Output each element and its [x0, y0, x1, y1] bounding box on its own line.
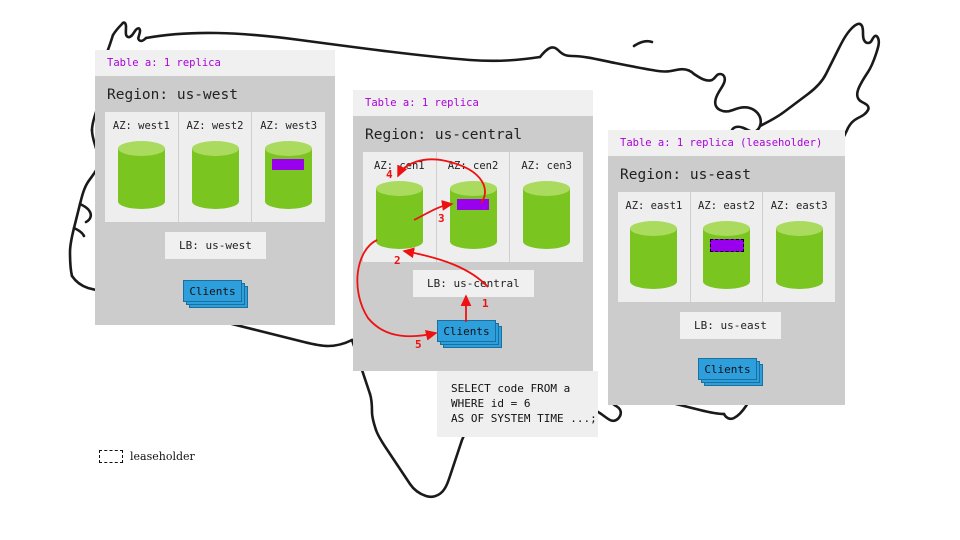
cylinder-body — [376, 188, 423, 242]
cylinder-top — [376, 181, 423, 196]
az-label-cen3: AZ: cen3 — [521, 152, 572, 181]
az-cell-east2[interactable]: AZ: east2 — [691, 192, 764, 302]
arrow-number-4: 4 — [386, 168, 393, 181]
clients-us-west[interactable]: Clients — [183, 280, 249, 308]
replica-marker-west3[interactable] — [272, 159, 304, 170]
arrow-number-1: 1 — [482, 297, 489, 310]
az-label-west1: AZ: west1 — [113, 112, 170, 141]
clients-us-central[interactable]: Clients — [437, 320, 507, 348]
region-panel-us-east: Table a: 1 replica (leaseholder) Region:… — [608, 130, 845, 405]
region-header-us-central: Table a: 1 replica — [353, 90, 593, 116]
clients-label-us-east[interactable]: Clients — [698, 358, 757, 380]
sql-query-note: SELECT code FROM a WHERE id = 6 AS OF SY… — [437, 371, 598, 437]
az-label-east1: AZ: east1 — [625, 192, 682, 221]
load-balancer-us-central[interactable]: LB: us-central — [413, 270, 534, 297]
leaseholder-swatch-icon — [99, 450, 123, 463]
node-west1[interactable] — [118, 141, 165, 209]
az-label-cen1: AZ: cen1 — [374, 152, 425, 181]
az-row-us-east: AZ: east1 AZ: east2 — [618, 192, 835, 302]
az-cell-west3[interactable]: AZ: west3 — [252, 112, 325, 222]
legend-label: leaseholder — [130, 450, 195, 463]
node-east3[interactable] — [776, 221, 823, 289]
node-west2[interactable] — [192, 141, 239, 209]
cylinder-body — [630, 228, 677, 282]
node-cen1[interactable] — [376, 181, 423, 249]
region-title-us-east: Region: us-east — [608, 156, 845, 192]
az-row-us-central: AZ: cen1 AZ: cen2 — [363, 152, 583, 262]
load-balancer-us-east[interactable]: LB: us-east — [680, 312, 781, 339]
az-label-east3: AZ: east3 — [771, 192, 828, 221]
legend-leaseholder: leaseholder — [99, 450, 195, 463]
region-panel-us-central: Table a: 1 replica Region: us-central AZ… — [353, 90, 593, 371]
cylinder-top — [703, 221, 750, 236]
cylinder-top — [192, 141, 239, 156]
cylinder-body — [192, 148, 239, 202]
cylinder-top — [630, 221, 677, 236]
az-cell-east3[interactable]: AZ: east3 — [763, 192, 835, 302]
az-cell-cen3[interactable]: AZ: cen3 — [510, 152, 583, 262]
cylinder-top — [776, 221, 823, 236]
cylinder-body — [265, 148, 312, 202]
region-title-us-west: Region: us-west — [95, 76, 335, 112]
cylinder-top — [523, 181, 570, 196]
arrow-number-5: 5 — [415, 338, 422, 351]
cylinder-body — [776, 228, 823, 282]
az-label-west2: AZ: west2 — [187, 112, 244, 141]
cylinder-top — [118, 141, 165, 156]
az-cell-cen1[interactable]: AZ: cen1 — [363, 152, 437, 262]
region-header-us-west: Table a: 1 replica — [95, 50, 335, 76]
cylinder-top — [450, 181, 497, 196]
diagram-canvas: Table a: 1 replica Region: us-west AZ: w… — [0, 0, 960, 540]
node-east2[interactable] — [703, 221, 750, 289]
cylinder-body — [703, 228, 750, 282]
region-header-us-east: Table a: 1 replica (leaseholder) — [608, 130, 845, 156]
az-label-east2: AZ: east2 — [698, 192, 755, 221]
replica-marker-east2-leaseholder[interactable] — [710, 239, 744, 252]
clients-label-us-west[interactable]: Clients — [183, 280, 242, 302]
az-cell-west2[interactable]: AZ: west2 — [179, 112, 253, 222]
arrow-number-2: 2 — [394, 254, 401, 267]
cylinder-top — [265, 141, 312, 156]
node-east1[interactable] — [630, 221, 677, 289]
replica-marker-cen2[interactable] — [457, 199, 489, 210]
cylinder-body — [523, 188, 570, 242]
load-balancer-us-west[interactable]: LB: us-west — [165, 232, 266, 259]
clients-label-us-central[interactable]: Clients — [437, 320, 496, 342]
node-cen2[interactable] — [450, 181, 497, 249]
az-row-us-west: AZ: west1 AZ: west2 — [105, 112, 325, 222]
node-cen3[interactable] — [523, 181, 570, 249]
az-cell-east1[interactable]: AZ: east1 — [618, 192, 691, 302]
node-west3[interactable] — [265, 141, 312, 209]
clients-us-east[interactable]: Clients — [698, 358, 768, 386]
az-cell-cen2[interactable]: AZ: cen2 — [437, 152, 511, 262]
az-cell-west1[interactable]: AZ: west1 — [105, 112, 179, 222]
az-label-cen2: AZ: cen2 — [448, 152, 499, 181]
cylinder-body — [118, 148, 165, 202]
region-title-us-central: Region: us-central — [353, 116, 593, 152]
az-label-west3: AZ: west3 — [260, 112, 317, 141]
arrow-number-3: 3 — [438, 212, 445, 225]
cylinder-body — [450, 188, 497, 242]
region-panel-us-west: Table a: 1 replica Region: us-west AZ: w… — [95, 50, 335, 325]
